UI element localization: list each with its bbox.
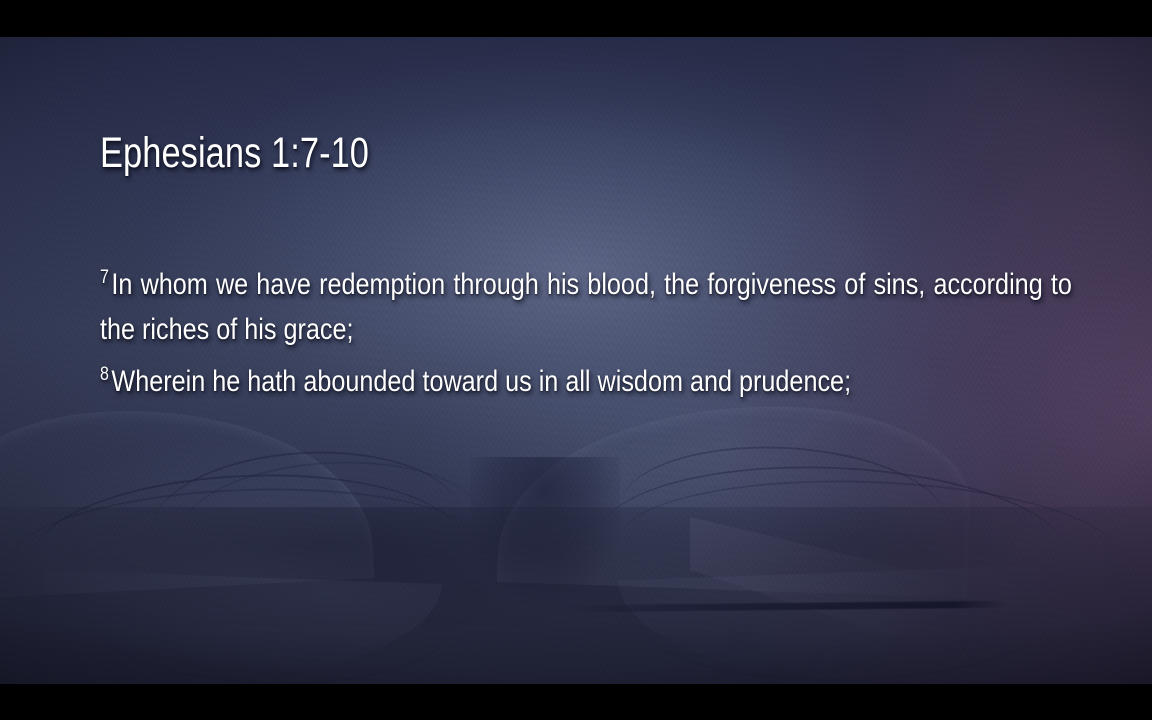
verse-number: 8: [100, 364, 111, 385]
letterbox-bottom: [0, 684, 1152, 720]
verse-paragraph: 8Wherein he hath abounded toward us in a…: [100, 352, 1072, 404]
letterbox-top: [0, 0, 1152, 37]
page-title: Ephesians 1:7-10: [100, 131, 369, 176]
scripture-text-block: 7In whom we have redemption through his …: [100, 255, 1072, 404]
verse-number: 7: [100, 267, 111, 288]
verse-paragraph: 7In whom we have redemption through his …: [100, 255, 1072, 352]
slide-content: Ephesians 1:7-10 7In whom we have redemp…: [0, 37, 1152, 684]
presentation-slide: Ephesians 1:7-10 7In whom we have redemp…: [0, 0, 1152, 720]
slide-canvas: Ephesians 1:7-10 7In whom we have redemp…: [0, 37, 1152, 684]
verse-text: Wherein he hath abounded toward us in al…: [111, 365, 851, 398]
verse-text: In whom we have redemption through his b…: [100, 268, 1072, 346]
